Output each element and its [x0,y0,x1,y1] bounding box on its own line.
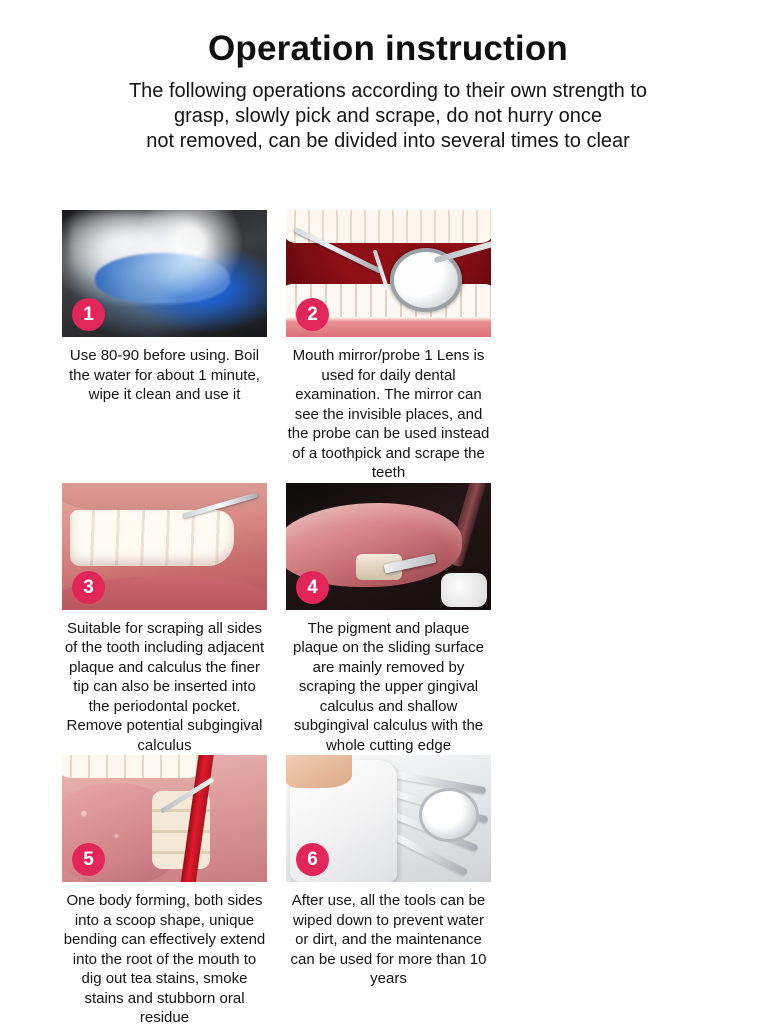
step-badge-3: 3 [72,571,105,604]
step-badge-6: 6 [296,843,329,876]
mouth-mirror-and-probe-photo: 2 [286,210,491,337]
step-caption-4: The pigment and plaque plaque on the sli… [286,619,491,756]
step-caption-2: Mouth mirror/probe 1 Lens is used for da… [286,346,491,483]
step-card-3: 3 Suitable for scraping all sides of the… [62,483,267,756]
step-caption-6: After use, all the tools can be wiped do… [286,891,491,989]
page-header: Operation instruction The following oper… [0,0,776,154]
scoop-tip-in-mouth-photo: 5 [62,755,267,882]
mouthguard-in-steam-photo: 1 [62,210,267,337]
subtitle-line-2: grasp, slowly pick and scrape, do not hu… [58,104,718,129]
step-card-1: 1 Use 80-90 before using. Boil the water… [62,210,267,483]
step-badge-4: 4 [296,571,329,604]
instruction-step-grid: 1 Use 80-90 before using. Boil the water… [62,210,714,1028]
step-card-6: 6 After use, all the tools can be wiped … [286,755,491,1028]
step-card-5: 5 One body forming, both sides into a sc… [62,755,267,1028]
page-title: Operation instruction [0,28,776,70]
subtitle-line-3: not removed, can be divided into several… [58,129,718,154]
step-caption-5: One body forming, both sides into a scoo… [62,891,267,1028]
step-badge-2: 2 [296,298,329,331]
step-card-4: 4 The pigment and plaque plaque on the s… [286,483,491,756]
step-caption-3: Suitable for scraping all sides of the t… [62,619,267,756]
gauze-shape [441,573,487,607]
step-card-2: 2 Mouth mirror/probe 1 Lens is used for … [286,210,491,483]
dental-mirror-shape [419,788,479,842]
page-subtitle: The following operations according to th… [58,79,718,154]
step-badge-5: 5 [72,843,105,876]
front-teeth-shape [70,510,234,566]
upper-teeth-shape [62,755,206,778]
step-badge-1: 1 [72,298,105,331]
step-caption-1: Use 80-90 before using. Boil the water f… [62,346,267,405]
operation-instruction-page: Operation instruction The following oper… [0,0,776,772]
subtitle-line-1: The following operations according to th… [58,79,718,104]
gingival-calculus-removal-photo: 4 [286,483,491,610]
scaler-on-teeth-closeup-photo: 3 [62,483,267,610]
mouthguard-shape [95,253,230,304]
wiping-tools-with-cloth-photo: 6 [286,755,491,882]
